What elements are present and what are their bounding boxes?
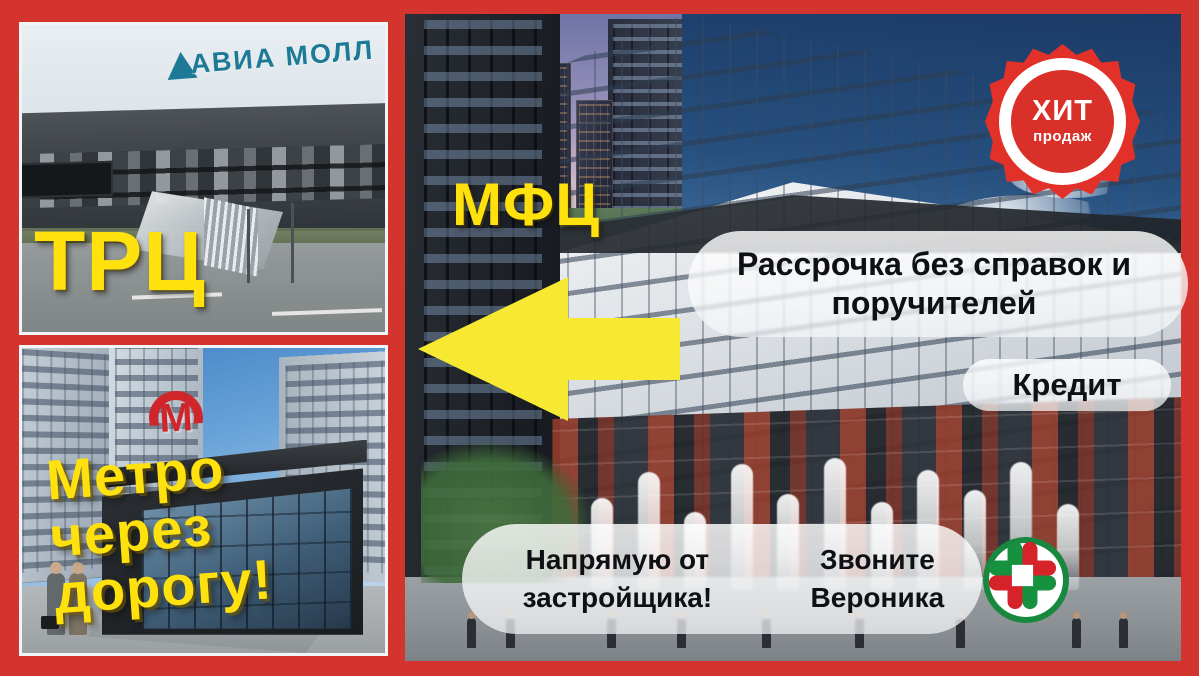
badge-core: ХИТ продаж xyxy=(1011,70,1113,172)
bubble-credit[interactable]: Кредит xyxy=(963,359,1171,411)
bubble-developer-line-1: Напрямую от застройщика! xyxy=(462,541,773,617)
trc-post xyxy=(247,209,250,283)
arrow-head xyxy=(418,277,568,421)
clover-logo[interactable] xyxy=(983,537,1069,623)
metro-label-line2: через дорогу! xyxy=(48,494,274,625)
person-figure xyxy=(1072,618,1081,648)
bubble-developer-line-2: Звоните Вероника xyxy=(773,541,982,617)
metro-m-glyph: М xyxy=(158,394,194,441)
metro-label: Метро через дорогу! xyxy=(44,429,385,623)
badge-title: ХИТ xyxy=(1032,97,1093,126)
trc-label: ТРЦ xyxy=(34,222,206,302)
hit-sales-badge[interactable]: ХИТ продаж xyxy=(985,44,1140,199)
person-figure xyxy=(1119,618,1128,648)
badge-subtitle: продаж xyxy=(1033,128,1092,145)
trc-post xyxy=(291,203,294,283)
left-arrow-icon xyxy=(418,277,680,421)
promo-collage: АВИА МОЛЛ М ИНТЕРПОЛИС xyxy=(0,0,1199,676)
clover-inner-circle xyxy=(989,543,1063,617)
mfc-label: МФЦ xyxy=(452,176,600,233)
bubble-installment[interactable]: Рассрочка без справок и поручителей xyxy=(688,231,1188,337)
bubble-developer-contact[interactable]: Напрямую от застройщика!Звоните Вероника xyxy=(462,524,982,634)
trc-billboard-screen xyxy=(20,161,114,199)
person-figure xyxy=(467,618,476,648)
arrow-tail xyxy=(558,318,680,380)
